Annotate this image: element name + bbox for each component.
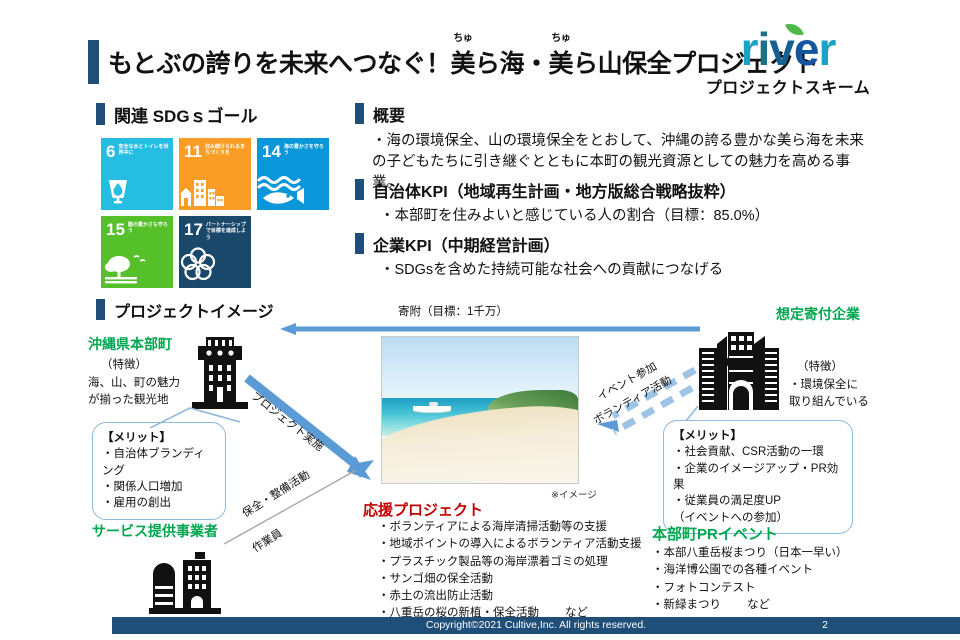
kpi-corp-heading: 企業KPI（中期経営計画）	[355, 233, 560, 254]
city-skyline-icon	[697, 326, 781, 410]
company-merit-title: 【メリット】	[673, 430, 742, 442]
company-name: 想定寄付企業	[776, 304, 860, 324]
town-merit-connector	[150, 406, 240, 428]
company-merit-1: ・社会貢献、CSR活動の一環	[673, 444, 843, 460]
tree-birds-icon	[101, 252, 173, 284]
beach-photo	[381, 336, 579, 484]
support-item-3: ・プラスチック製品等の海岸漂着ゴミの処理	[378, 554, 641, 571]
support-item-4: ・サンゴ畑の保全活動	[378, 571, 641, 588]
sdg-number: 11	[184, 143, 202, 160]
town-feature-line1: 海、山、町の魅力	[88, 375, 180, 392]
ruby-text-2: ちゅ	[551, 29, 570, 44]
company-feature-label: （特徴）	[797, 359, 843, 376]
logo-subtitle: プロジェクトスキーム	[678, 74, 898, 98]
project-image-heading: プロジェクトイメージ	[96, 299, 274, 320]
support-project-list: ・ボランティアによる海岸清掃活動等の支援 ・地域ポイントの導入によるボランティア…	[378, 519, 641, 623]
kpi-corp-heading-text: 企業KPI（中期経営計画）	[373, 232, 560, 256]
title-part1: もとぶの誇りを未来へつなぐ！	[108, 50, 451, 78]
sdg-number: 6	[106, 143, 115, 160]
ruby-base-2: 美	[549, 50, 574, 78]
town-feature-label: （特徴）	[101, 357, 147, 374]
overview-accent-bar	[355, 103, 364, 124]
overview-heading-text: 概要	[373, 102, 405, 126]
sdg-goal-grid: 6 安全な水とトイレを世界中に 11 住み続けられるまちづくりを	[101, 138, 341, 294]
kpi-local-accent-bar	[355, 179, 364, 200]
kpi-corp-body: ・SDGsを含めた持続可能な社会への貢献につなげる	[380, 260, 880, 281]
kpi-corp-accent-bar	[355, 233, 364, 254]
ruby-chura-1: ちゅ美	[451, 44, 476, 80]
fish-waves-icon	[257, 174, 329, 206]
photo-boat	[413, 406, 451, 412]
city-buildings-icon	[179, 176, 251, 206]
donation-arrow-label: 寄附（目標：1千万）	[398, 303, 508, 319]
kpi-local-body: ・本部町を住みよいと感じている人の割合（目標：85.0%）	[380, 206, 880, 227]
town-merit-2: ・関係人口増加	[102, 479, 216, 495]
company-merit-3: ・従業員の満足度UP	[673, 493, 843, 509]
sdg-row-2: 15 陸の豊かさも守ろう 17 パートナーシップで目標を達成しよう	[101, 216, 341, 288]
company-feature-line2: 取り組んでいる	[789, 394, 869, 411]
pr-event-3: ・フォトコンテスト	[652, 580, 848, 597]
pr-event-4-text: ・新緑まつり	[652, 599, 721, 611]
footer-bar: Copyright©2021 Cultive,Inc. All rights r…	[112, 617, 960, 634]
donation-arrow	[280, 322, 700, 336]
sdg-goal-14: 14 海の豊かさを守ろう	[257, 138, 329, 210]
sdg-accent-bar	[96, 103, 105, 125]
pr-events-heading: 本部町PRイベント	[652, 523, 778, 544]
kpi-local-heading-text: 自治体KPI（地域再生計画・地方版総合戦略抜粋）	[373, 178, 736, 202]
ruby-base-1: 美	[451, 50, 476, 78]
sdg-goal-17: 17 パートナーシップで目標を達成しよう	[179, 216, 251, 288]
pr-events-etc: など	[747, 597, 770, 614]
logo-letter-r: r	[741, 23, 758, 75]
sdg-row-1: 6 安全な水とトイレを世界中に 11 住み続けられるまちづくりを	[101, 138, 341, 210]
photo-note: ※イメージ	[551, 487, 597, 501]
town-merit-1: ・自治体ブランディング	[102, 446, 216, 479]
title-accent-bar	[88, 40, 99, 84]
river-logo: river プロジェクトスキーム	[678, 26, 898, 98]
factory-building-icon	[143, 552, 227, 614]
logo-wordmark: river	[741, 26, 836, 72]
town-merit-title: 【メリット】	[102, 432, 171, 444]
sdg-number: 15	[106, 221, 125, 238]
sdg-goal-11: 11 住み続けられるまちづくりを	[179, 138, 251, 210]
water-glass-icon	[101, 172, 173, 206]
sdg-heading: 関連 SDGｓゴール	[96, 103, 258, 125]
ruby-text-1: ちゅ	[453, 29, 472, 44]
support-item-2: ・地域ポイントの導入によるボランティア活動支援	[378, 536, 641, 553]
service-provider-name: サービス提供事業者	[92, 521, 218, 541]
town-merit-3: ・雇用の創出	[102, 495, 216, 511]
sdg-number: 17	[184, 221, 203, 238]
project-image-accent-bar	[96, 299, 105, 320]
company-merit-2: ・企業のイメージアップ・PR効果	[673, 461, 843, 494]
company-feature-line1: ・環境保全に	[789, 377, 858, 394]
partnership-rings-icon	[179, 246, 251, 284]
footer-copyright: Copyright©2021 Cultive,Inc. All rights r…	[112, 619, 960, 631]
support-item-5: ・赤土の流出防止活動	[378, 588, 641, 605]
title-mid1: ら海・	[475, 50, 549, 78]
town-name: 沖縄県本部町	[88, 334, 172, 354]
project-image-heading-text: プロジェクトイメージ	[114, 298, 274, 322]
logo-letter-r2: r	[818, 23, 835, 75]
support-project-heading: 応援プロジェクト	[363, 499, 483, 520]
slide-root: もとぶの誇りを未来へつなぐ！ちゅ美ら海・ちゅ美ら山保全プロジェクト river …	[0, 0, 960, 640]
kpi-local-heading: 自治体KPI（地域再生計画・地方版総合戦略抜粋）	[355, 179, 736, 200]
pr-events-list: ・本部八重岳桜まつり（日本一早い） ・海洋博公園での各種イベント ・フォトコンテ…	[652, 545, 848, 614]
pr-event-4: ・新緑まつりなど	[652, 597, 848, 614]
sdg-number: 14	[262, 143, 281, 160]
support-item-1: ・ボランティアによる海岸清掃活動等の支援	[378, 519, 641, 536]
sdg-heading-text: 関連 SDGｓゴール	[114, 102, 258, 127]
sdg-goal-6: 6 安全な水とトイレを世界中に	[101, 138, 173, 210]
ruby-chura-2: ちゅ美	[549, 44, 574, 80]
footer-page-number: 2	[822, 619, 828, 631]
company-merit-box: 【メリット】 ・社会貢献、CSR活動の一環 ・企業のイメージアップ・PR効果 ・…	[663, 420, 853, 534]
logo-letter-i: i	[758, 23, 770, 75]
pr-event-2: ・海洋博公園での各種イベント	[652, 562, 848, 579]
sdg-goal-15: 15 陸の豊かさも守ろう	[101, 216, 173, 288]
pr-event-1: ・本部八重岳桜まつり（日本一早い）	[652, 545, 848, 562]
town-merit-box: 【メリット】 ・自治体ブランディング ・関係人口増加 ・雇用の創出	[92, 422, 226, 520]
overview-heading: 概要	[355, 103, 405, 124]
